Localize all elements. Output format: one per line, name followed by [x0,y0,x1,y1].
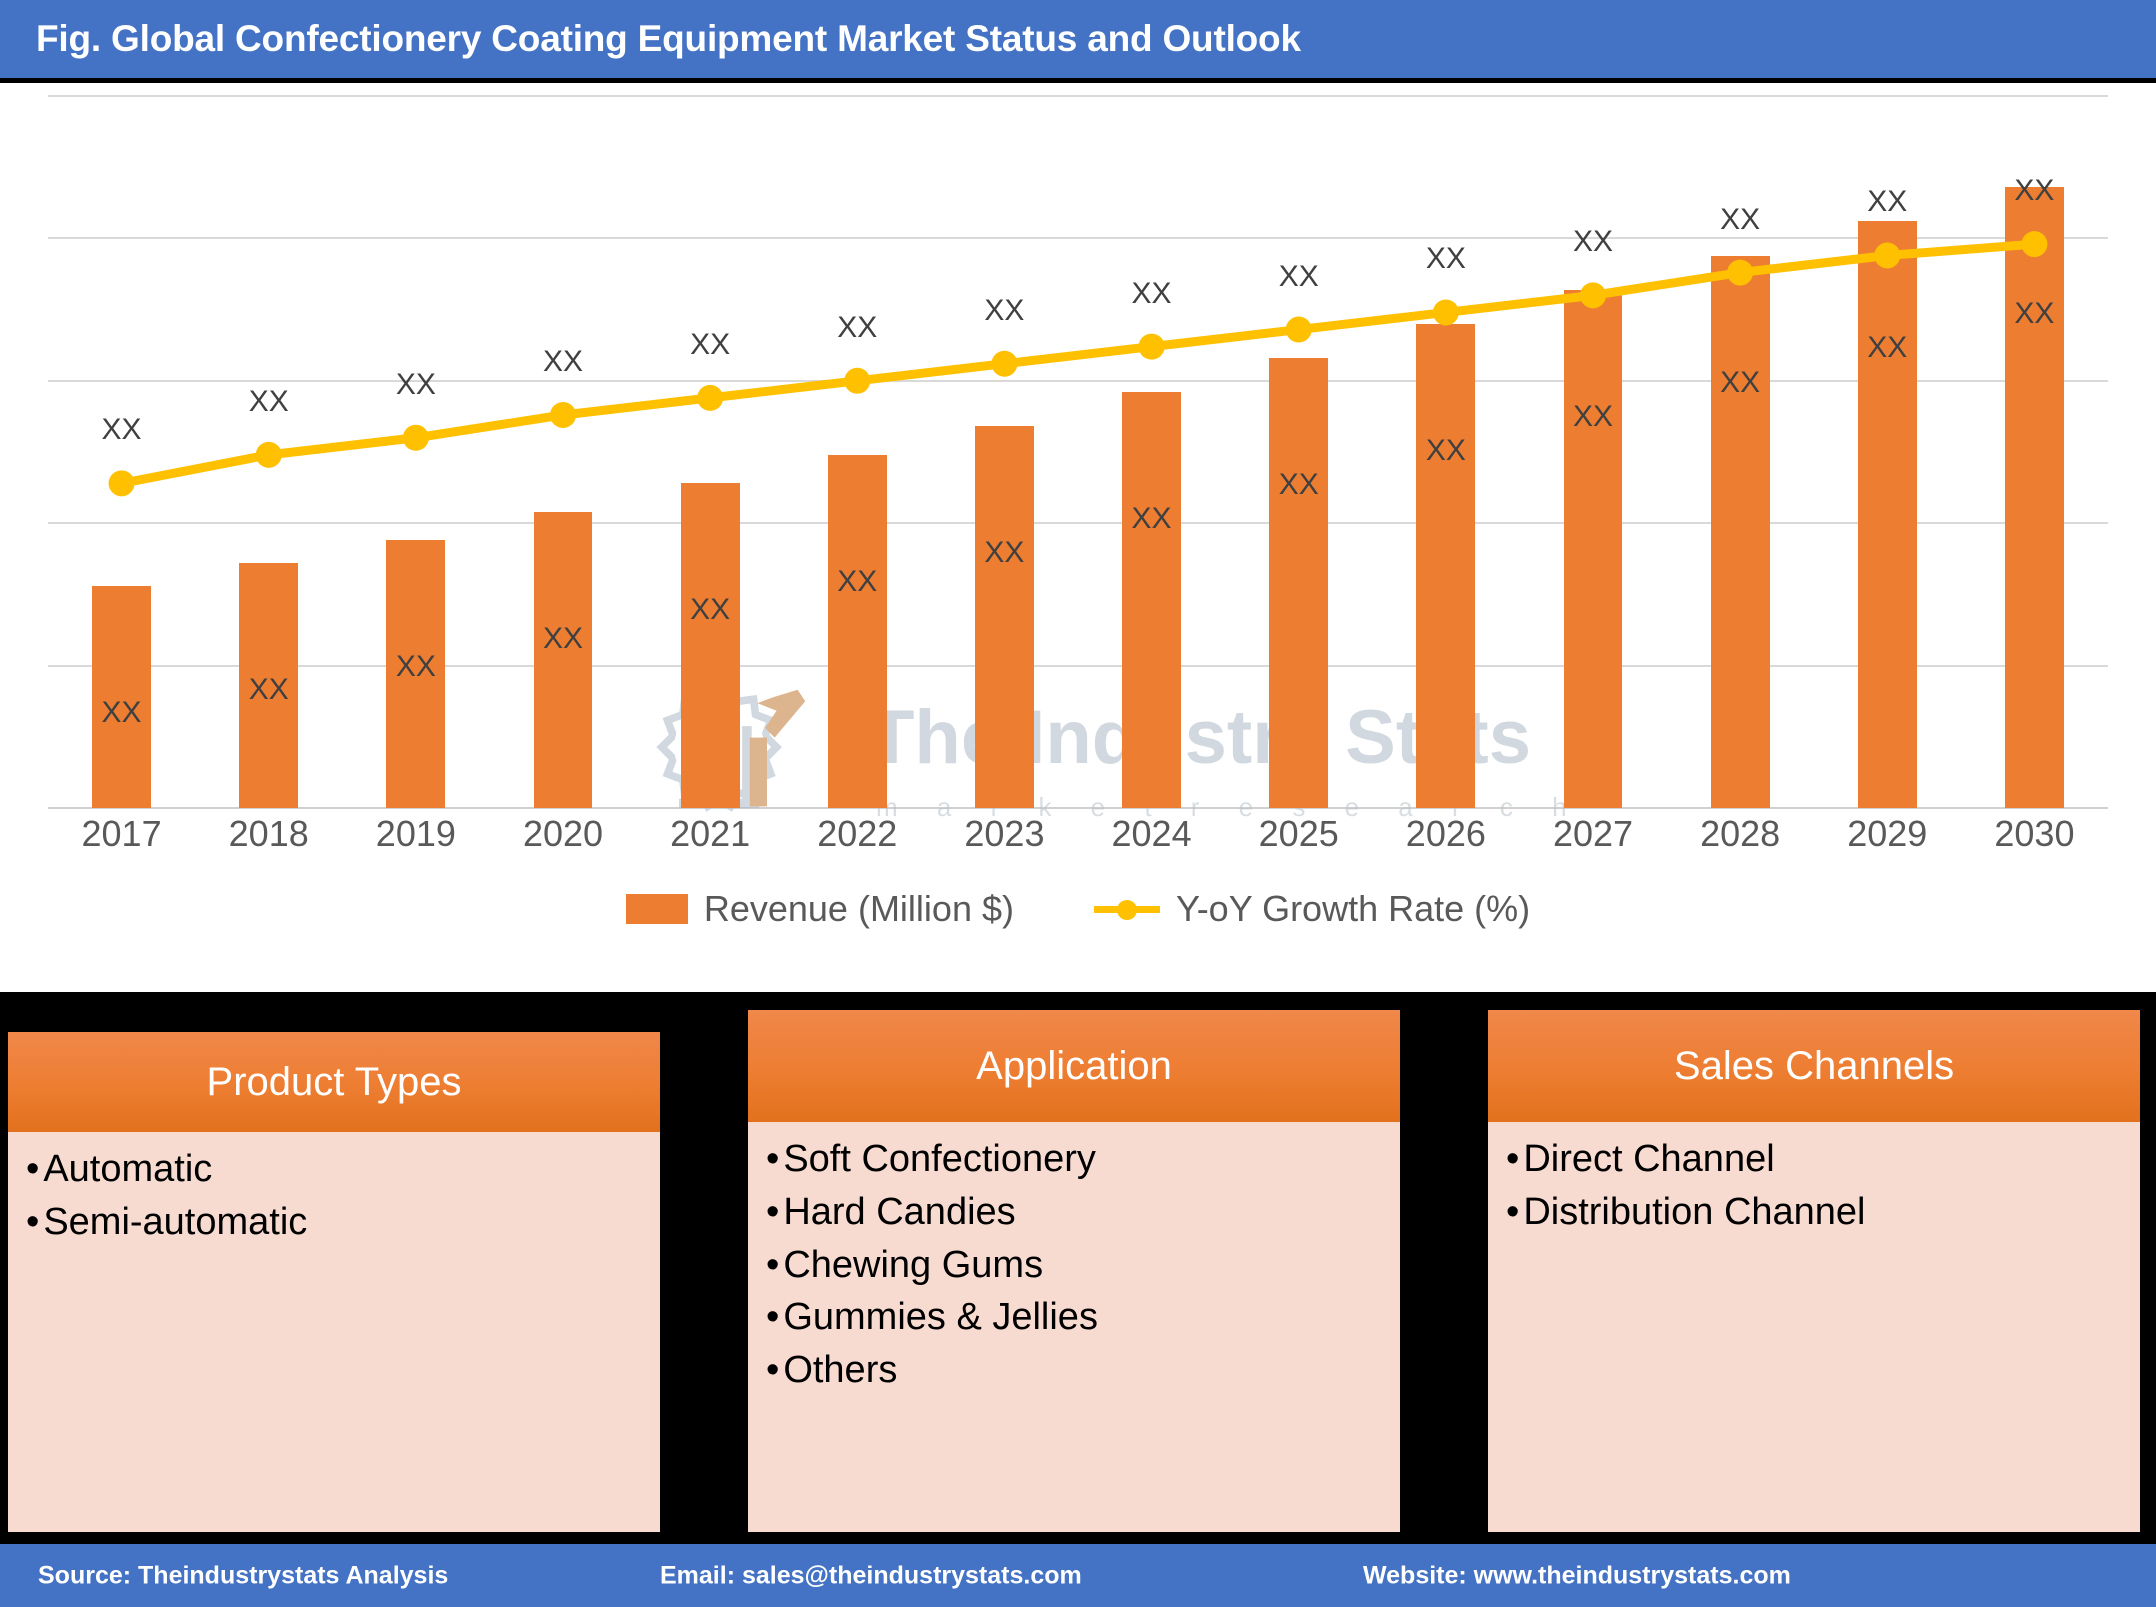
list-item-label: Chewing Gums [783,1246,1043,1285]
footer-bar: Source: Theindustrystats Analysis Email:… [0,1540,2156,1607]
footer-email: Email: sales@theindustrystats.com [660,1561,1082,1590]
bullet-icon: • [26,1203,39,1242]
footer-source: Source: Theindustrystats Analysis [38,1561,448,1590]
x-axis-tick-label: 2029 [1847,813,1927,855]
plot-area: The Industry Stats m a r k e t r e s e a… [48,96,2108,808]
bullet-icon: • [766,1351,779,1390]
bullet-icon: • [766,1140,779,1179]
chart-panel: The Industry Stats m a r k e t r e s e a… [0,88,2156,1000]
list-item: •Distribution Channel [1506,1193,2140,1232]
header-bar: Fig. Global Confectionery Coating Equipm… [0,0,2156,83]
bullet-icon: • [766,1298,779,1337]
segment-box-product-types: Product Types •Automatic•Semi-automatic [8,1032,660,1532]
list-item: •Chewing Gums [766,1246,1400,1285]
list-item-label: Soft Confectionery [783,1140,1096,1179]
x-axis-tick-label: 2024 [1112,813,1192,855]
list-item-label: Gummies & Jellies [783,1298,1098,1337]
x-axis-tick-label: 2019 [376,813,456,855]
infographic-root: Fig. Global Confectionery Coating Equipm… [0,0,2156,1607]
legend-label: Y-oY Growth Rate (%) [1176,888,1530,930]
x-axis-tick-label: 2017 [82,813,162,855]
legend-item[interactable]: Y-oY Growth Rate (%) [1094,888,1530,930]
bullet-icon: • [1506,1140,1519,1179]
growth-value-label: XX [1426,242,1466,276]
x-axis-tick-label: 2021 [670,813,750,855]
list-item: •Hard Candies [766,1193,1400,1232]
growth-value-label: XX [1573,225,1613,259]
growth-value-label: XX [396,368,436,402]
growth-value-label: XX [1720,203,1760,237]
segment-box-items: •Direct Channel•Distribution Channel [1488,1122,2140,1532]
list-item: •Others [766,1351,1400,1390]
x-axis-tick-label: 2028 [1700,813,1780,855]
list-item: •Semi-automatic [26,1203,660,1242]
x-axis-tick-label: 2018 [229,813,309,855]
list-item-label: Semi-automatic [43,1203,307,1242]
growth-value-label: XX [2014,174,2054,208]
growth-value-label: XX [984,294,1024,328]
segment-boxes-strip: Product Types •Automatic•Semi-automatic … [0,1000,2156,1540]
x-axis-tick-label: 2022 [817,813,897,855]
chart-legend: Revenue (Million $)Y-oY Growth Rate (%) [0,888,2156,930]
growth-value-label: XX [249,385,289,419]
growth-line-labels: XXXXXXXXXXXXXXXXXXXXXXXXXXXX [48,96,2108,808]
list-item: •Direct Channel [1506,1140,2140,1179]
list-item-label: Hard Candies [783,1193,1015,1232]
segment-box-heading: Product Types [8,1032,660,1132]
list-item: •Gummies & Jellies [766,1298,1400,1337]
list-item-label: Automatic [43,1150,212,1189]
footer-website: Website: www.theindustrystats.com [1363,1561,1791,1590]
x-axis-tick-label: 2020 [523,813,603,855]
growth-value-label: XX [1279,260,1319,294]
segment-box-application: Application •Soft Confectionery•Hard Can… [748,1010,1400,1532]
x-axis-tick-label: 2025 [1259,813,1339,855]
bullet-icon: • [766,1193,779,1232]
growth-value-label: XX [837,311,877,345]
list-item: •Automatic [26,1150,660,1189]
page-title: Fig. Global Confectionery Coating Equipm… [0,18,1301,60]
legend-swatch-icon [626,894,688,924]
segment-box-sales-channels: Sales Channels •Direct Channel•Distribut… [1488,1010,2140,1532]
segment-box-heading: Sales Channels [1488,1010,2140,1122]
legend-line-icon [1094,894,1160,924]
bullet-icon: • [1506,1193,1519,1232]
legend-item[interactable]: Revenue (Million $) [626,888,1014,930]
growth-value-label: XX [690,328,730,362]
growth-value-label: XX [543,345,583,379]
segment-box-items: •Soft Confectionery•Hard Candies•Chewing… [748,1122,1400,1532]
list-item-label: Direct Channel [1523,1140,1774,1179]
bullet-icon: • [26,1150,39,1189]
growth-value-label: XX [1132,277,1172,311]
growth-value-label: XX [102,413,142,447]
list-item: •Soft Confectionery [766,1140,1400,1179]
x-axis-tick-label: 2027 [1553,813,1633,855]
x-axis-labels: 2017201820192020202120222023202420252026… [48,813,2108,871]
x-axis-tick-label: 2030 [1994,813,2074,855]
bullet-icon: • [766,1246,779,1285]
growth-value-label: XX [1867,185,1907,219]
x-axis-tick-label: 2026 [1406,813,1486,855]
list-item-label: Distribution Channel [1523,1193,1865,1232]
legend-label: Revenue (Million $) [704,888,1014,930]
list-item-label: Others [783,1351,897,1390]
segment-box-heading: Application [748,1010,1400,1122]
x-axis-tick-label: 2023 [964,813,1044,855]
segment-box-items: •Automatic•Semi-automatic [8,1132,660,1532]
